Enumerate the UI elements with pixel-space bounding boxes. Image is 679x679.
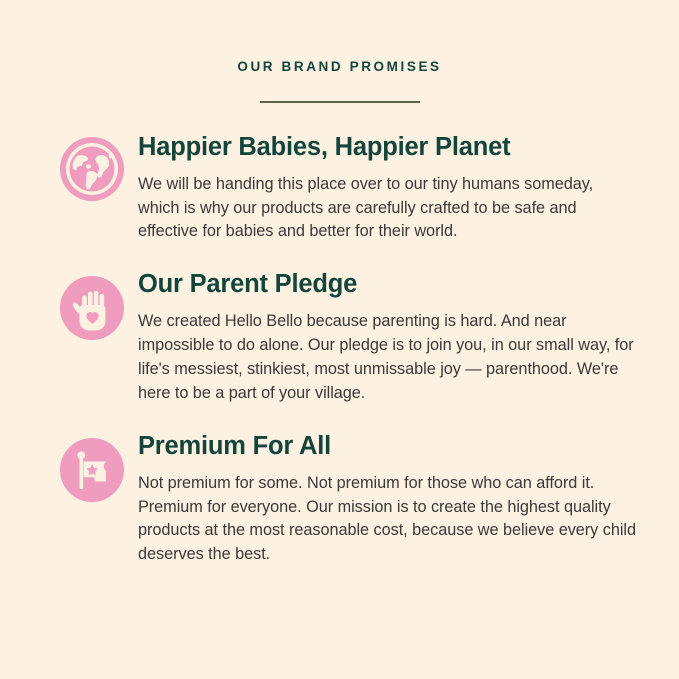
promise-title: Our Parent Pledge xyxy=(138,270,637,299)
hand-heart-icon xyxy=(60,276,124,340)
page-title: OUR BRAND PROMISES xyxy=(0,60,679,74)
brand-promises-page: OUR BRAND PROMISES xyxy=(0,0,679,679)
promise-description: We created Hello Bello because parenting… xyxy=(138,310,637,405)
page-header: OUR BRAND PROMISES xyxy=(0,0,679,103)
promise-description: We will be handing this place over to ou… xyxy=(138,173,637,244)
promise-item: Our Parent Pledge We created Hello Bello… xyxy=(60,270,637,405)
promise-title: Premium For All xyxy=(138,432,637,461)
promise-item: Happier Babies, Happier Planet We will b… xyxy=(60,131,637,245)
header-divider xyxy=(260,101,420,103)
promise-content: Happier Babies, Happier Planet We will b… xyxy=(124,131,637,245)
promises-list: Happier Babies, Happier Planet We will b… xyxy=(0,131,679,568)
promise-content: Our Parent Pledge We created Hello Bello… xyxy=(124,270,637,405)
promise-description: Not premium for some. Not premium for th… xyxy=(138,472,637,567)
promise-title: Happier Babies, Happier Planet xyxy=(138,133,637,162)
promise-item: Premium For All Not premium for some. No… xyxy=(60,432,637,567)
promise-content: Premium For All Not premium for some. No… xyxy=(124,432,637,567)
globe-icon xyxy=(60,137,124,201)
flag-star-icon xyxy=(60,438,124,502)
